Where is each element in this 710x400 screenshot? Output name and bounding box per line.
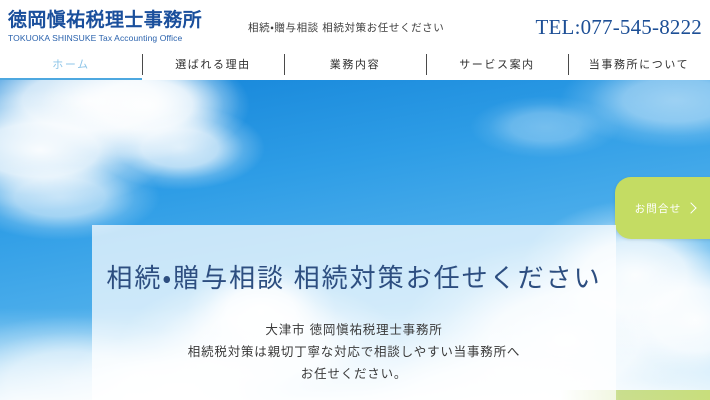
site-header: 徳岡愼祐税理士事務所 TOKUOKA SHINSUKE Tax Accounti… (0, 0, 710, 50)
contact-tab-label: お問合せ (635, 201, 682, 216)
hero-heading: 相続・贈与相談 相続対策お任せください (92, 258, 616, 295)
logo-text-en: TOKUOKA SHINSUKE Tax Accounting Office (8, 33, 238, 44)
contact-tab-button[interactable]: お問合せ (615, 177, 710, 239)
hero-body-line: お任せください。 (92, 363, 616, 385)
logo-text-jp: 徳岡愼祐税理士事務所 (8, 10, 238, 32)
hero-panel: 相続・贈与相談 相続対策お任せください 大津市 徳岡愼祐税理士事務所 相続税対策… (92, 225, 616, 400)
hero-section: お問合せ 相続・贈与相談 相続対策お任せください 大津市 徳岡愼祐税理士事務所 … (0, 80, 710, 400)
header-tagline: 相続・贈与相談 相続対策お任せください (248, 20, 444, 35)
hero-body-line: 相続税対策は親切丁寧な対応で相談しやすい当事務所へ (92, 341, 616, 363)
hero-body-line: 大津市 徳岡愼祐税理士事務所 (92, 319, 616, 341)
nav-item-reasons[interactable]: 選ばれる理由 (142, 50, 284, 80)
chevron-right-icon (686, 202, 697, 213)
site-logo[interactable]: 徳岡愼祐税理士事務所 TOKUOKA SHINSUKE Tax Accounti… (8, 10, 238, 44)
nav-item-service-guide[interactable]: サービス案内 (426, 50, 568, 80)
main-navigation: ホーム 選ばれる理由 業務内容 サービス案内 当事務所について (0, 50, 710, 80)
header-telephone[interactable]: TEL:077-545-8222 (535, 15, 702, 40)
page-root: 徳岡愼祐税理士事務所 TOKUOKA SHINSUKE Tax Accounti… (0, 0, 710, 400)
nav-item-services-detail[interactable]: 業務内容 (284, 50, 426, 80)
nav-item-about[interactable]: 当事務所について (568, 50, 710, 80)
nav-item-home[interactable]: ホーム (0, 50, 142, 80)
hero-body-text: 大津市 徳岡愼祐税理士事務所 相続税対策は親切丁寧な対応で相談しやすい当事務所へ… (92, 319, 616, 385)
